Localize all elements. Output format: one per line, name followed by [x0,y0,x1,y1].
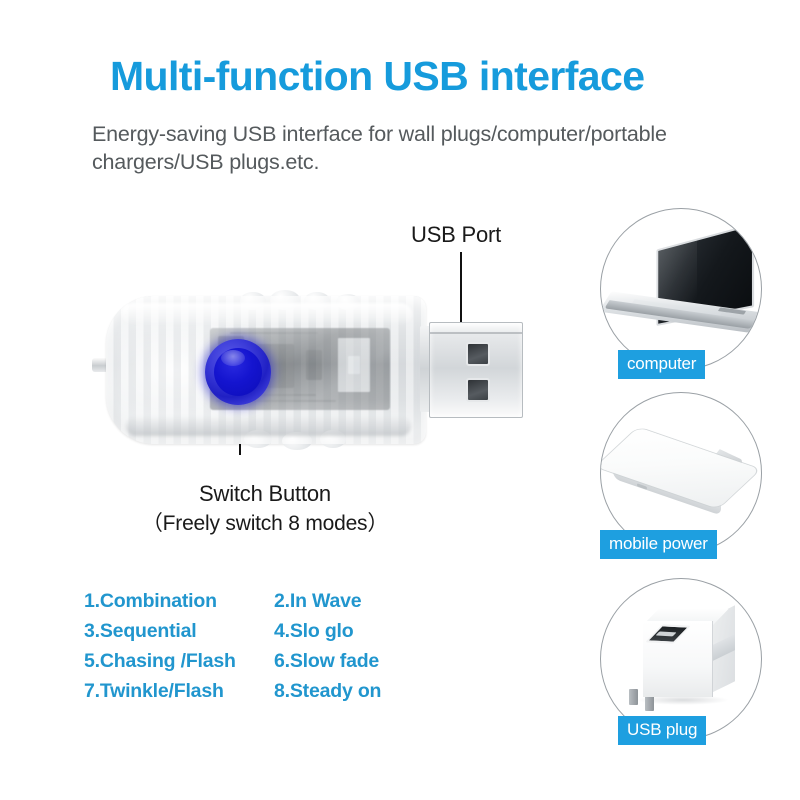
mode-item-1: 1.Combination [84,590,217,612]
shell-top-highlight [122,303,412,325]
pcb-chip [306,350,322,380]
switch-button-annotation-line2: （Freely switch 8 modes） [100,509,430,539]
page-subtitle: Energy-saving USB interface for wall plu… [92,120,752,177]
mode-row: 5.Chasing /Flash 6.Slow fade [84,650,544,673]
mode-row: 1.Combination 2.In Wave [84,590,544,613]
mode-row: 3.Sequential 4.Slo glo [84,620,544,643]
usb-plug-prong [645,695,654,711]
pcb-pad [348,356,360,374]
usb-controller-image [92,296,522,444]
mode-item-6: 6.Slow fade [274,650,379,672]
usb-notch-icon [466,342,490,366]
product-infographic: Multi-function USB interface Energy-savi… [0,0,800,800]
compat-item-mobile-power: mobile power [600,392,770,567]
mode-row: 7.Twinkle/Flash 8.Steady on [84,680,544,703]
switch-button-annotation-line1: Switch Button [100,478,430,509]
mode-item-7: 7.Twinkle/Flash [84,680,224,702]
usb-plug-prong [629,689,638,705]
usb-port-inner [656,631,677,636]
mode-item-5: 5.Chasing /Flash [84,650,236,672]
compat-item-usb-plug: USB plug [600,578,770,753]
mode-item-8: 8.Steady on [274,680,381,702]
mode-item-2: 2.In Wave [274,590,361,612]
usb-a-connector [429,322,523,418]
switch-button-annotation: Switch Button （Freely switch 8 modes） [100,478,430,539]
usb-port-annotation-label: USB Port [411,222,501,248]
lighting-modes-list: 1.Combination 2.In Wave 3.Sequential 4.S… [84,590,544,710]
compat-circle-computer [600,208,762,370]
compat-label-usb-plug: USB plug [618,716,706,745]
switch-button-highlight [221,350,245,366]
mode-item-3: 3.Sequential [84,620,196,642]
compat-label-computer: computer [618,350,705,379]
page-title: Multi-function USB interface [110,56,770,97]
mode-item-4: 4.Slo glo [274,620,353,642]
usb-notch-icon [466,378,490,402]
compat-label-mobile-power: mobile power [600,530,717,559]
shell-bottom-shadow [126,416,411,436]
compat-item-computer: computer [600,208,770,383]
switch-button[interactable] [205,339,271,405]
pcb-trace [230,332,318,334]
